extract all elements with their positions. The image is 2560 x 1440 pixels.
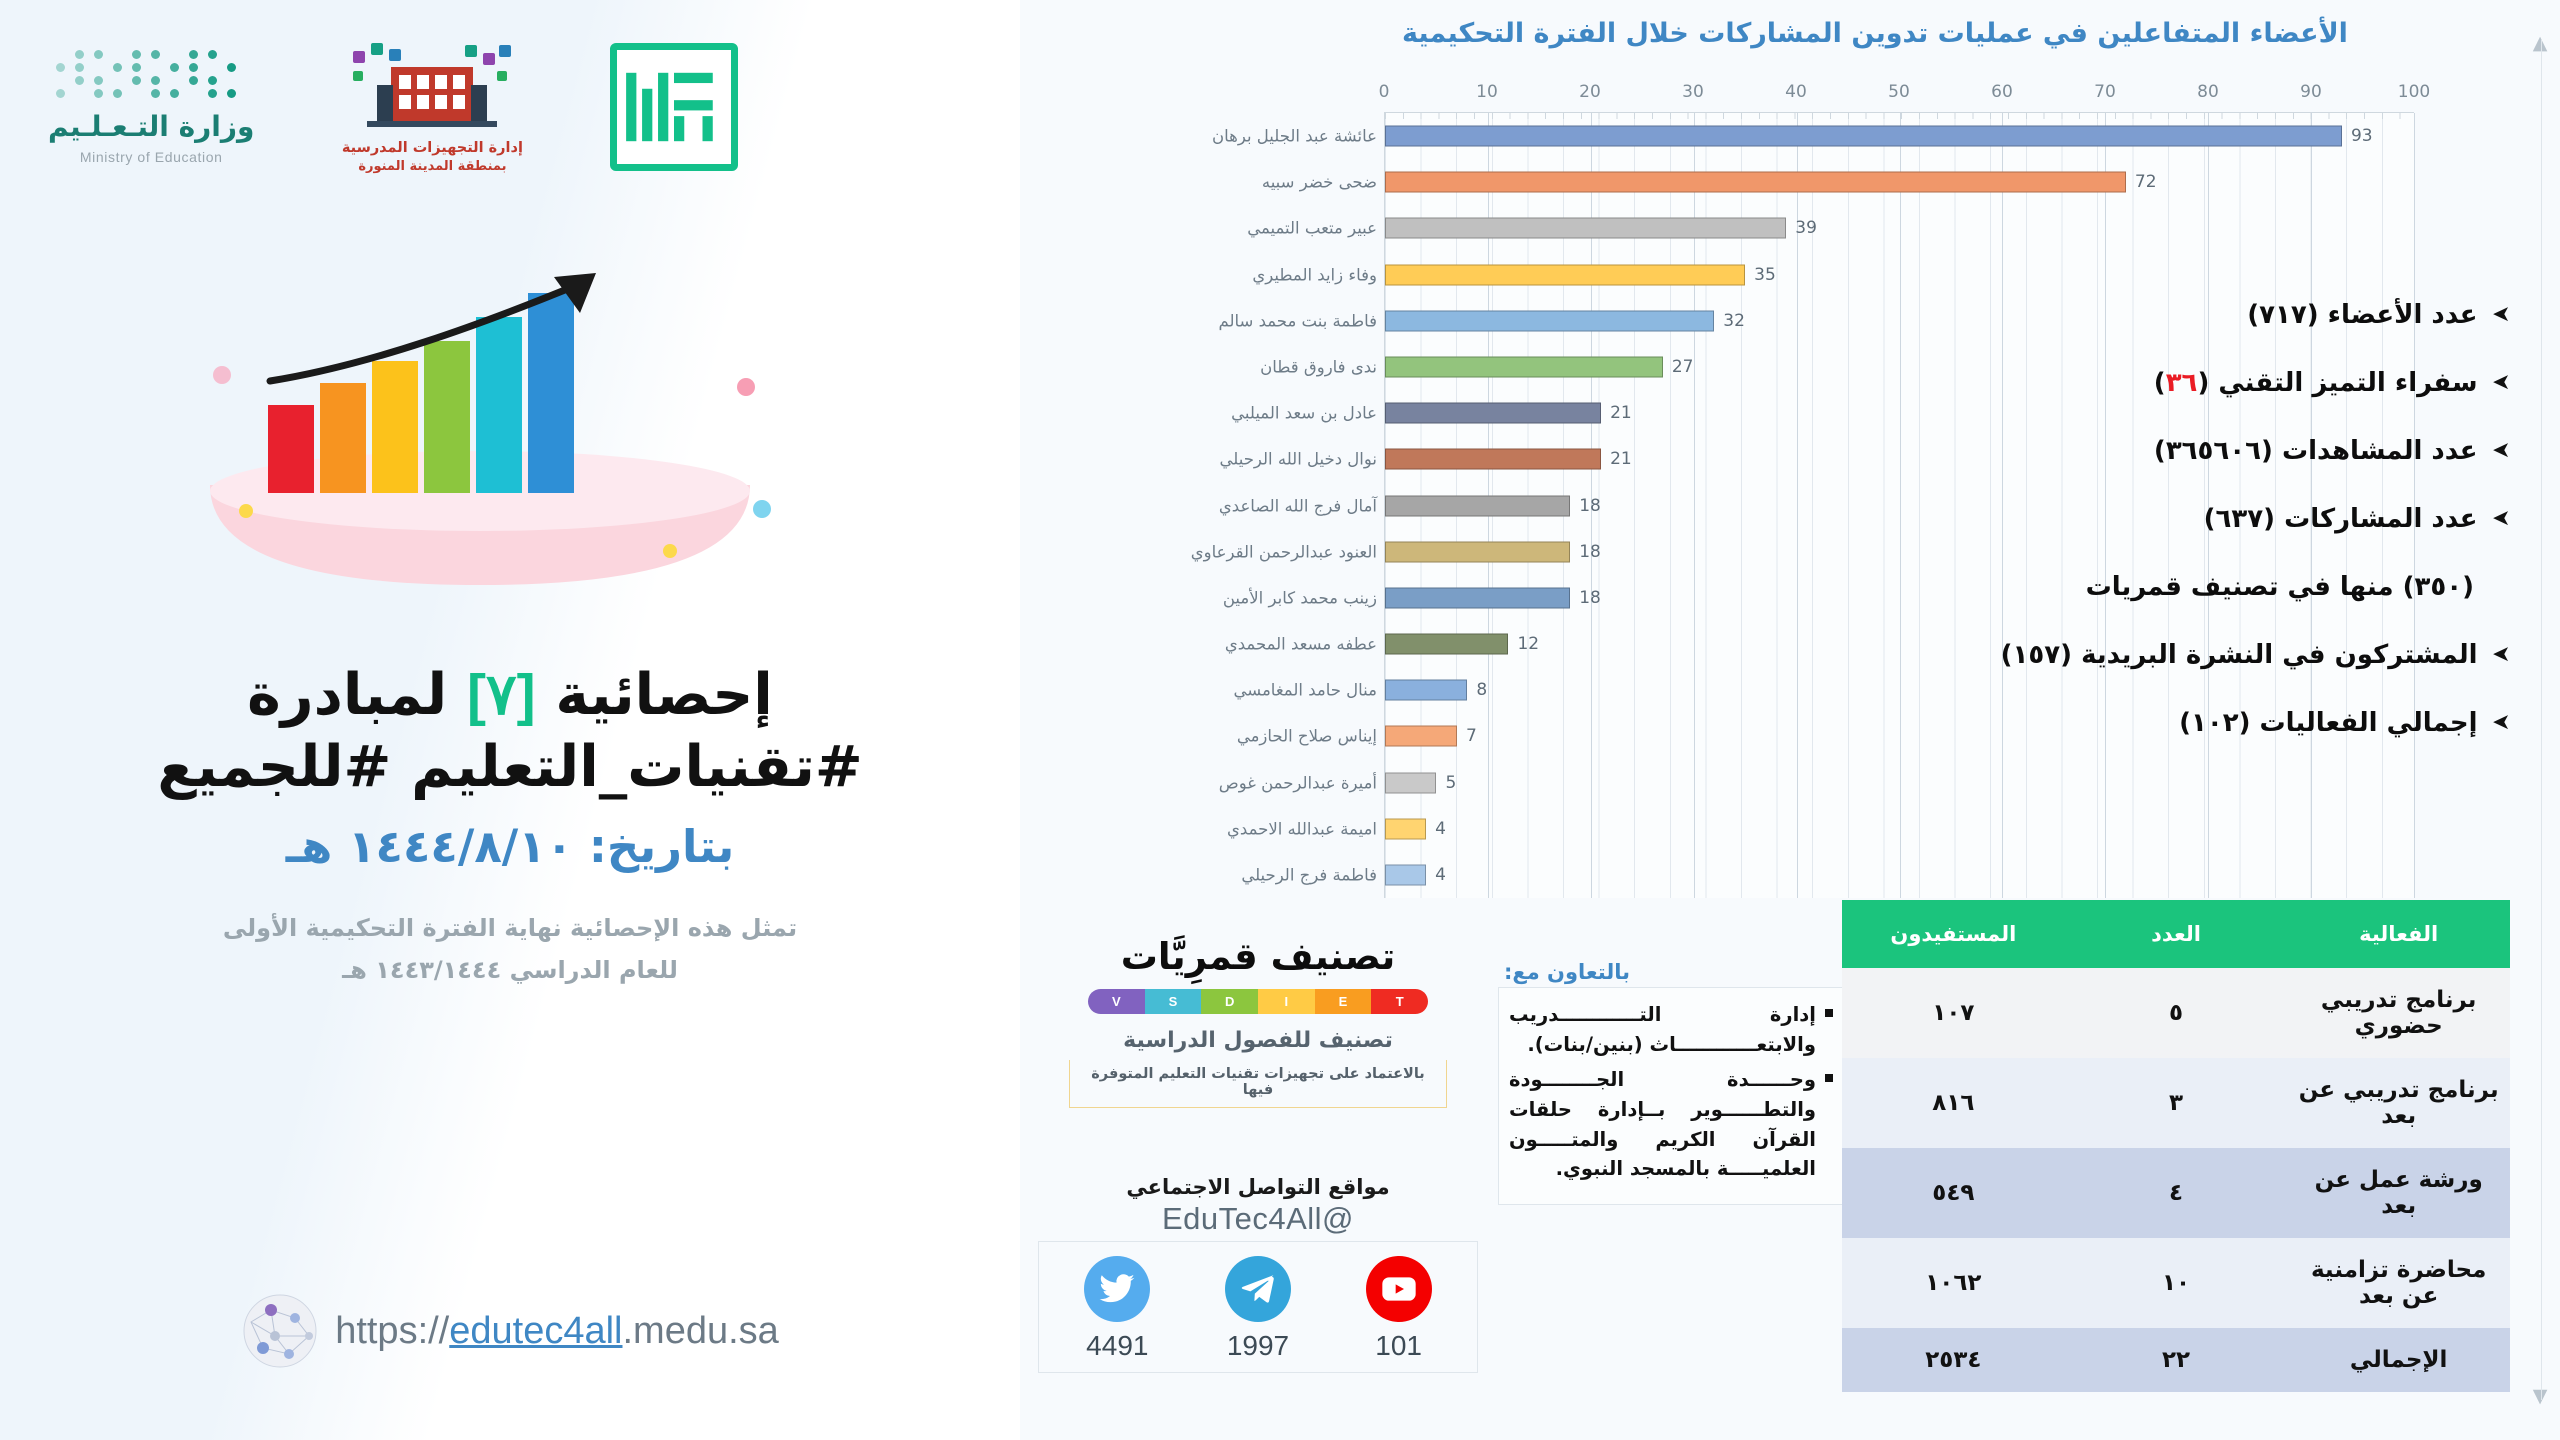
x-tick-60: 60 xyxy=(1991,82,2013,102)
bullet-arrow-icon: ➤ xyxy=(2492,440,2510,462)
headline-hashtags: #تقنيات_التعليم #للجميع xyxy=(60,732,960,804)
table-header-row: الفعاليةالعددالمستفيدون xyxy=(1842,900,2510,968)
x-tick-0: 0 xyxy=(1379,82,1390,102)
data-panel: ▲ ▼ الأعضاء المتفاعلين في عمليات تدوين ا… xyxy=(1020,0,2560,1440)
qamariyat-subtitle: تصنيف للفصول الدراسية xyxy=(1038,1028,1478,1053)
bar xyxy=(1385,587,1570,608)
x-tick-10: 10 xyxy=(1476,82,1498,102)
x-tick-40: 40 xyxy=(1785,82,1807,102)
logo-row: وزارة التـعـلـيم Ministry of Education xyxy=(0,22,1020,192)
bar-value: 4 xyxy=(1435,865,1446,885)
bar xyxy=(1385,449,1601,470)
collaboration-item: إدارة التــــــــــــدريب والابتعـــــــ… xyxy=(1509,1000,1833,1059)
stat-bullet: ➤عدد المشاهدات (٣٦٥٦٠٦) xyxy=(1870,436,2510,466)
bar xyxy=(1385,356,1663,377)
bar xyxy=(1385,541,1570,562)
social-handle: @EduTec4All xyxy=(1038,1201,1478,1237)
bar-label: إيناس صلاح الحازمي xyxy=(1237,727,1377,746)
bar xyxy=(1385,726,1457,747)
social-count: 101 xyxy=(1375,1330,1422,1362)
stats-bullet-list: ➤عدد الأعضاء (٧١٧)➤سفراء التميز التقني (… xyxy=(1870,300,2510,776)
headline-note: تمثل هذه الإحصائية نهاية الفترة التحكيمي… xyxy=(60,907,960,991)
headline-post: لمبادرة xyxy=(247,662,467,728)
chart-title: الأعضاء المتفاعلين في عمليات تدوين المشا… xyxy=(1250,18,2500,49)
bar-value: 27 xyxy=(1672,357,1694,377)
teidsv-scale: TEIDSV xyxy=(1088,989,1428,1014)
twitter-icon[interactable] xyxy=(1084,1256,1150,1322)
collaboration-title: بالتعاون مع: xyxy=(1498,960,1848,984)
divider-line xyxy=(2541,40,2542,1400)
table-cell: ٥ xyxy=(2065,968,2288,1058)
x-tick-90: 90 xyxy=(2300,82,2322,102)
growth-chart-illustration xyxy=(150,255,810,585)
table-row: برنامج تدريبي عن بعد٣٨١٦ xyxy=(1842,1058,2510,1148)
stat-bullet-text: إجمالي الفعاليات (١٠٢) xyxy=(2179,708,2478,738)
panel-scroll-divider[interactable]: ▲ ▼ xyxy=(2520,0,2560,1440)
chart-x-axis: 0102030405060708090100 xyxy=(1384,82,2414,110)
bullet-square-icon xyxy=(1825,1009,1833,1017)
stat-bullet: ➤إجمالي الفعاليات (١٠٢) xyxy=(1870,708,2510,738)
table-cell: ١٠٧ xyxy=(1842,968,2065,1058)
url-domain: edutec4all xyxy=(449,1310,622,1352)
bar-value: 35 xyxy=(1754,265,1776,285)
teidsv-segment-T: T xyxy=(1371,989,1428,1014)
bar-label: عطفه مسعد المحمدي xyxy=(1225,635,1377,654)
activities-table-wrap: الفعاليةالعددالمستفيدون برنامج تدريبي حض… xyxy=(1842,900,2510,1392)
scroll-up-caret[interactable]: ▲ xyxy=(2533,34,2548,53)
bar-label: وفاء زايد المطيري xyxy=(1252,265,1377,284)
table-cell: الإجمالي xyxy=(2287,1328,2510,1392)
school-equipment-dept-logo: إدارة التجهيزات المدرسية بمنطقة المدينة … xyxy=(312,41,552,174)
bar-value: 18 xyxy=(1579,542,1601,562)
stat-bullet-text: عدد المشاهدات (٣٦٥٦٠٦) xyxy=(2154,436,2478,466)
social-account-twitter[interactable]: 4491 xyxy=(1062,1256,1172,1362)
stat-bullet-text: المشتركون في النشرة البريدية (١٥٧) xyxy=(2001,640,2478,670)
bullet-arrow-icon: ➤ xyxy=(2492,712,2510,734)
table-cell: ١٠٦٢ xyxy=(1842,1238,2065,1328)
bar xyxy=(1385,126,2342,147)
bar-label: زينب محمد كابر الأمين xyxy=(1223,588,1377,607)
bar-value: 72 xyxy=(2135,172,2157,192)
table-row: ورشة عمل عن بعد٤٥٤٩ xyxy=(1842,1148,2510,1238)
headline-date: بتاريخ: ١٤٤٤/٨/١٠ هـ xyxy=(60,820,960,873)
collaboration-block: بالتعاون مع: إدارة التــــــــــــدريب و… xyxy=(1498,960,1848,1205)
ministry-of-education-logo: وزارة التـعـلـيم Ministry of Education xyxy=(48,50,254,165)
collaboration-list: إدارة التــــــــــــدريب والابتعـــــــ… xyxy=(1509,1000,1833,1184)
bar-value: 39 xyxy=(1795,218,1817,238)
table-body: برنامج تدريبي حضوري٥١٠٧برنامج تدريبي عن … xyxy=(1842,968,2510,1392)
headline-number: [٧] xyxy=(467,663,536,727)
moe-dots-icon xyxy=(56,50,246,104)
table-cell: ٤ xyxy=(2065,1148,2288,1238)
bullet-arrow-icon: ➤ xyxy=(2492,372,2510,394)
teidsv-segment-S: S xyxy=(1145,989,1202,1014)
headline-line-1: إحصائية [٧] لمبادرة xyxy=(60,660,960,732)
bar xyxy=(1385,634,1508,655)
teidsv-segment-E: E xyxy=(1315,989,1372,1014)
table-row: محاضرة تزامنية عن بعد١٠١٠٦٢ xyxy=(1842,1238,2510,1328)
bar-label: فاطمة فرج الرحيلي xyxy=(1241,865,1377,884)
globe-network-icon xyxy=(241,1292,319,1370)
bar xyxy=(1385,495,1570,516)
table-cell: برنامج تدريبي حضوري xyxy=(2287,968,2510,1058)
table-cell: ٨١٦ xyxy=(1842,1058,2065,1148)
bar-label: ضحى خضر سبيه xyxy=(1262,173,1377,192)
social-block: مواقع التواصل الاجتماعي @EduTec4All 4491… xyxy=(1038,1175,1478,1373)
bar-label: عبير متعب التميمي xyxy=(1247,219,1377,238)
bullet-arrow-icon: ➤ xyxy=(2492,304,2510,326)
table-row: برنامج تدريبي حضوري٥١٠٧ xyxy=(1842,968,2510,1058)
social-accounts: 44911997101 xyxy=(1038,1241,1478,1373)
promo-headline: إحصائية [٧] لمبادرة #تقنيات_التعليم #للج… xyxy=(0,660,1020,991)
dept-line-2: بمنطقة المدينة المنورة xyxy=(358,159,506,174)
bar-value: 21 xyxy=(1610,449,1632,469)
telegram-icon[interactable] xyxy=(1225,1256,1291,1322)
scroll-down-caret[interactable]: ▼ xyxy=(2533,1387,2548,1406)
table-cell: برنامج تدريبي عن بعد xyxy=(2287,1058,2510,1148)
qamariyat-note: بالاعتماد على تجهيزات تقنيات التعليم الم… xyxy=(1069,1060,1447,1108)
collaboration-item-text: إدارة التــــــــــــدريب والابتعـــــــ… xyxy=(1509,1000,1816,1059)
social-title: مواقع التواصل الاجتماعي xyxy=(1038,1175,1478,1199)
stat-bullet: ➤عدد المشاركات (٦٣٧) xyxy=(1870,504,2510,534)
table-cell: محاضرة تزامنية عن بعد xyxy=(2287,1238,2510,1328)
teidsv-segment-V: V xyxy=(1088,989,1145,1014)
social-count: 1997 xyxy=(1227,1330,1289,1362)
social-account-telegram[interactable]: 1997 xyxy=(1203,1256,1313,1362)
highlighted-number: ٣٦ xyxy=(2166,368,2198,398)
bar-label: أميرة عبدالرحمن غوص xyxy=(1219,773,1377,792)
bar-value: 12 xyxy=(1517,634,1539,654)
headline-pre: إحصائية xyxy=(536,662,773,728)
bar-label: ندى فاروق قطان xyxy=(1260,357,1377,376)
x-tick-50: 50 xyxy=(1888,82,1910,102)
bar xyxy=(1385,310,1714,331)
table-header-cell: العدد xyxy=(2065,900,2288,968)
bar-value: 5 xyxy=(1445,773,1456,793)
collaboration-item-text: وحــــــدة الجــــــــودة والتطــــــوير… xyxy=(1509,1065,1816,1184)
dept-building-icon xyxy=(347,41,517,137)
bar-value: 4 xyxy=(1435,819,1446,839)
bullet-arrow-icon: ➤ xyxy=(2492,508,2510,530)
x-tick-100: 100 xyxy=(2398,82,2430,102)
bar-value: 18 xyxy=(1579,496,1601,516)
stat-bullet-text: سفراء التميز التقني (٣٦) xyxy=(2154,368,2478,398)
stat-bullet-text: (٣٥٠) منها في تصنيف قمريات xyxy=(2086,572,2474,602)
bar-label: العنود عبدالرحمن القرعاوي xyxy=(1191,542,1377,561)
x-tick-70: 70 xyxy=(2094,82,2116,102)
bar xyxy=(1385,680,1467,701)
table-cell: ١٠ xyxy=(2065,1238,2288,1328)
bar-value: 18 xyxy=(1579,588,1601,608)
moe-name-ar: وزارة التـعـلـيم xyxy=(48,110,254,143)
collaboration-box: إدارة التــــــــــــدريب والابتعـــــــ… xyxy=(1498,987,1848,1205)
bar-value: 7 xyxy=(1466,726,1477,746)
dept-line-1: إدارة التجهيزات المدرسية xyxy=(342,140,523,156)
bar-value: 8 xyxy=(1476,680,1487,700)
table-cell: ٣ xyxy=(2065,1058,2288,1148)
teidsv-segment-I: I xyxy=(1258,989,1315,1014)
social-account-youtube[interactable]: 101 xyxy=(1344,1256,1454,1362)
table-cell: ٢٥٣٤ xyxy=(1842,1328,2065,1392)
qamariyat-title: تصنيف قمرِيَّات xyxy=(1038,935,1478,978)
bar-label: نوال دخيل الله الرحيلي xyxy=(1220,450,1377,469)
stat-bullet: ➤سفراء التميز التقني (٣٦) xyxy=(1870,368,2510,398)
bar-label: آمال فرج الله الصاعدي xyxy=(1219,496,1377,515)
website-row[interactable]: https://edutec4all.medu.sa xyxy=(0,1292,1020,1370)
teidsv-segment-D: D xyxy=(1201,989,1258,1014)
bar-value: 21 xyxy=(1610,403,1632,423)
stat-bullet: ➤المشتركون في النشرة البريدية (١٥٧) xyxy=(1870,640,2510,670)
bar-label: فاطمة بنت محمد سالم xyxy=(1219,311,1378,330)
stat-bullet: (٣٥٠) منها في تصنيف قمريات xyxy=(1870,572,2510,602)
headline-note-line-2: للعام الدراسي ١٤٤٣/١٤٤٤ هـ xyxy=(60,949,960,991)
promo-panel: وزارة التـعـلـيم Ministry of Education xyxy=(0,0,1020,1440)
taqniyat-mark-icon xyxy=(610,43,738,171)
stat-bullet: ➤عدد الأعضاء (٧١٧) xyxy=(1870,300,2510,330)
activities-table: الفعاليةالعددالمستفيدون برنامج تدريبي حض… xyxy=(1842,900,2510,1392)
x-tick-20: 20 xyxy=(1579,82,1601,102)
table-cell: ٢٢ xyxy=(2065,1328,2288,1392)
bar xyxy=(1385,172,2126,193)
x-tick-80: 80 xyxy=(2197,82,2219,102)
bar xyxy=(1385,818,1426,839)
bar xyxy=(1385,403,1601,424)
collaboration-item: وحــــــدة الجــــــــودة والتطــــــوير… xyxy=(1509,1065,1833,1184)
bullet-square-icon xyxy=(1825,1074,1833,1082)
moe-name-en: Ministry of Education xyxy=(80,149,223,165)
headline-note-line-1: تمثل هذه الإحصائية نهاية الفترة التحكيمي… xyxy=(60,907,960,949)
youtube-icon[interactable] xyxy=(1366,1256,1432,1322)
table-cell: ورشة عمل عن بعد xyxy=(2287,1148,2510,1238)
url-scheme: https:// xyxy=(335,1310,449,1352)
bar xyxy=(1385,864,1426,885)
infographic-root: وزارة التـعـلـيم Ministry of Education xyxy=(0,0,2560,1440)
table-row: الإجمالي٢٢٢٥٣٤ xyxy=(1842,1328,2510,1392)
table-header-cell: المستفيدون xyxy=(1842,900,2065,968)
url-suffix: .medu.sa xyxy=(623,1310,779,1352)
bar-value: 32 xyxy=(1723,311,1745,331)
bar-label: عادل بن سعد الميلبي xyxy=(1231,404,1377,423)
table-cell: ٥٤٩ xyxy=(1842,1148,2065,1238)
social-count: 4491 xyxy=(1086,1330,1148,1362)
bar-value: 93 xyxy=(2351,126,2373,146)
qamariyat-block: تصنيف قمرِيَّات TEIDSV تصنيف للفصول الدر… xyxy=(1038,935,1478,1108)
x-tick-30: 30 xyxy=(1682,82,1704,102)
table-header-cell: الفعالية xyxy=(2287,900,2510,968)
bar-label: عائشة عبد الجليل برهان xyxy=(1212,127,1377,146)
bar xyxy=(1385,264,1745,285)
stat-bullet-text: عدد المشاركات (٦٣٧) xyxy=(2204,504,2478,534)
website-url[interactable]: https://edutec4all.medu.sa xyxy=(335,1310,779,1353)
bar-label: اميمة عبدالله الاحمدي xyxy=(1227,819,1377,838)
bar-label: منال حامد المغامسي xyxy=(1234,681,1378,700)
bar xyxy=(1385,772,1436,793)
bar xyxy=(1385,218,1786,239)
bullet-arrow-icon: ➤ xyxy=(2492,644,2510,666)
stat-bullet-text: عدد الأعضاء (٧١٧) xyxy=(2247,300,2477,330)
